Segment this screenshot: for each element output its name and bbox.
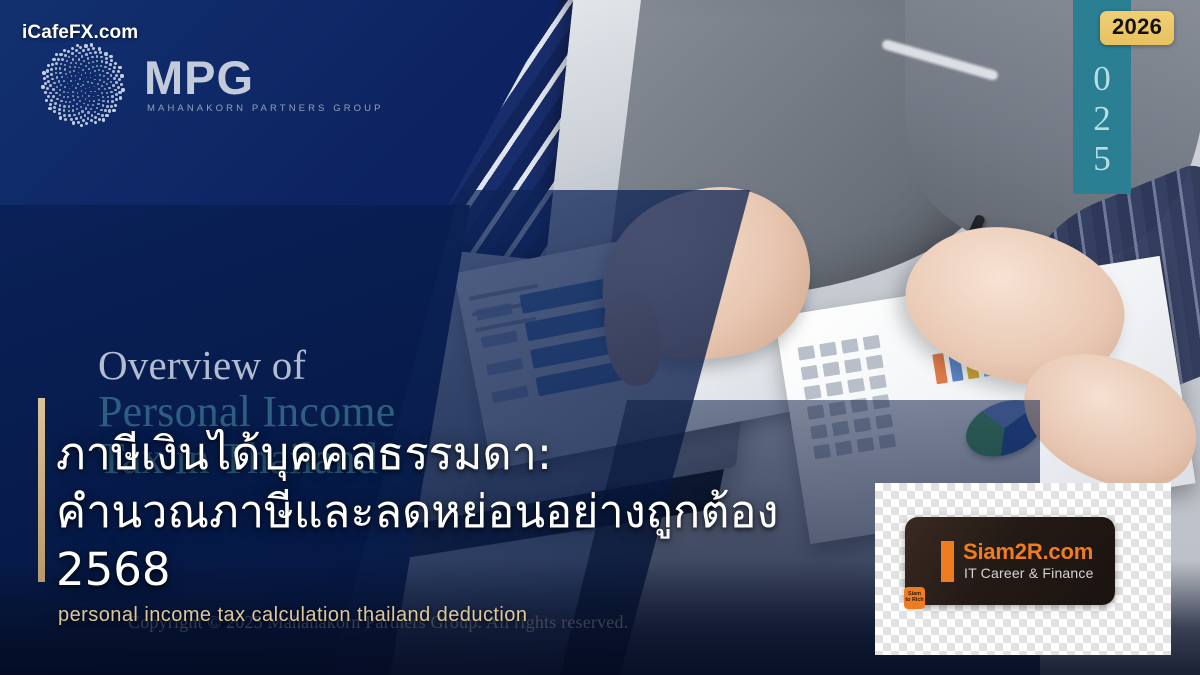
headline-thai: ภาษีเงินได้บุคคลธรรมดา: คำนวณภาษีและลดหย… [56, 424, 926, 598]
icafefx-watermark: iCafeFX.com [22, 22, 138, 44]
siam2r-overlay-panel: Siam2R.com IT Career & Finance Siam to R… [875, 483, 1171, 655]
siam2r-site-name: Siam2R.com [963, 539, 1093, 565]
mpg-logo: MPG MAHANAKORN PARTNERS GROUP [40, 42, 384, 128]
mpg-logo-name: MPG [144, 56, 384, 101]
headline-line2: คำนวณภาษีและลดหย่อนอย่างถูกต้อง [56, 482, 926, 540]
year-digit: 5 [1093, 141, 1111, 177]
slide-canvas: iCafeFX.com MPG MAHANAKORN PARTNERS GROU… [0, 0, 1200, 675]
siam2r-badge-line2: to Rich [905, 598, 923, 604]
siam2r-tagline: IT Career & Finance [964, 565, 1094, 581]
year-badge: 2026 [1100, 11, 1174, 45]
headline-line3: 2568 [56, 540, 926, 598]
headline-line1: ภาษีเงินได้บุคคลธรรมดา: [56, 424, 926, 482]
mpg-logo-text: MPG MAHANAKORN PARTNERS GROUP [144, 56, 384, 114]
year-digit: 0 [1093, 61, 1111, 97]
siam2r-accent-bar-icon [941, 541, 954, 582]
siam2r-corner-badge: Siam to Rich [904, 587, 925, 609]
year-digit: 2 [1093, 101, 1111, 137]
background-title-line1: Overview of [98, 344, 658, 387]
headline-subtitle: personal income tax calculation thailand… [58, 604, 527, 627]
siam2r-logo-card: Siam2R.com IT Career & Finance [905, 517, 1115, 605]
dotted-spiral-icon [40, 42, 126, 128]
accent-bar [38, 398, 45, 582]
mpg-logo-subtitle: MAHANAKORN PARTNERS GROUP [144, 103, 384, 114]
